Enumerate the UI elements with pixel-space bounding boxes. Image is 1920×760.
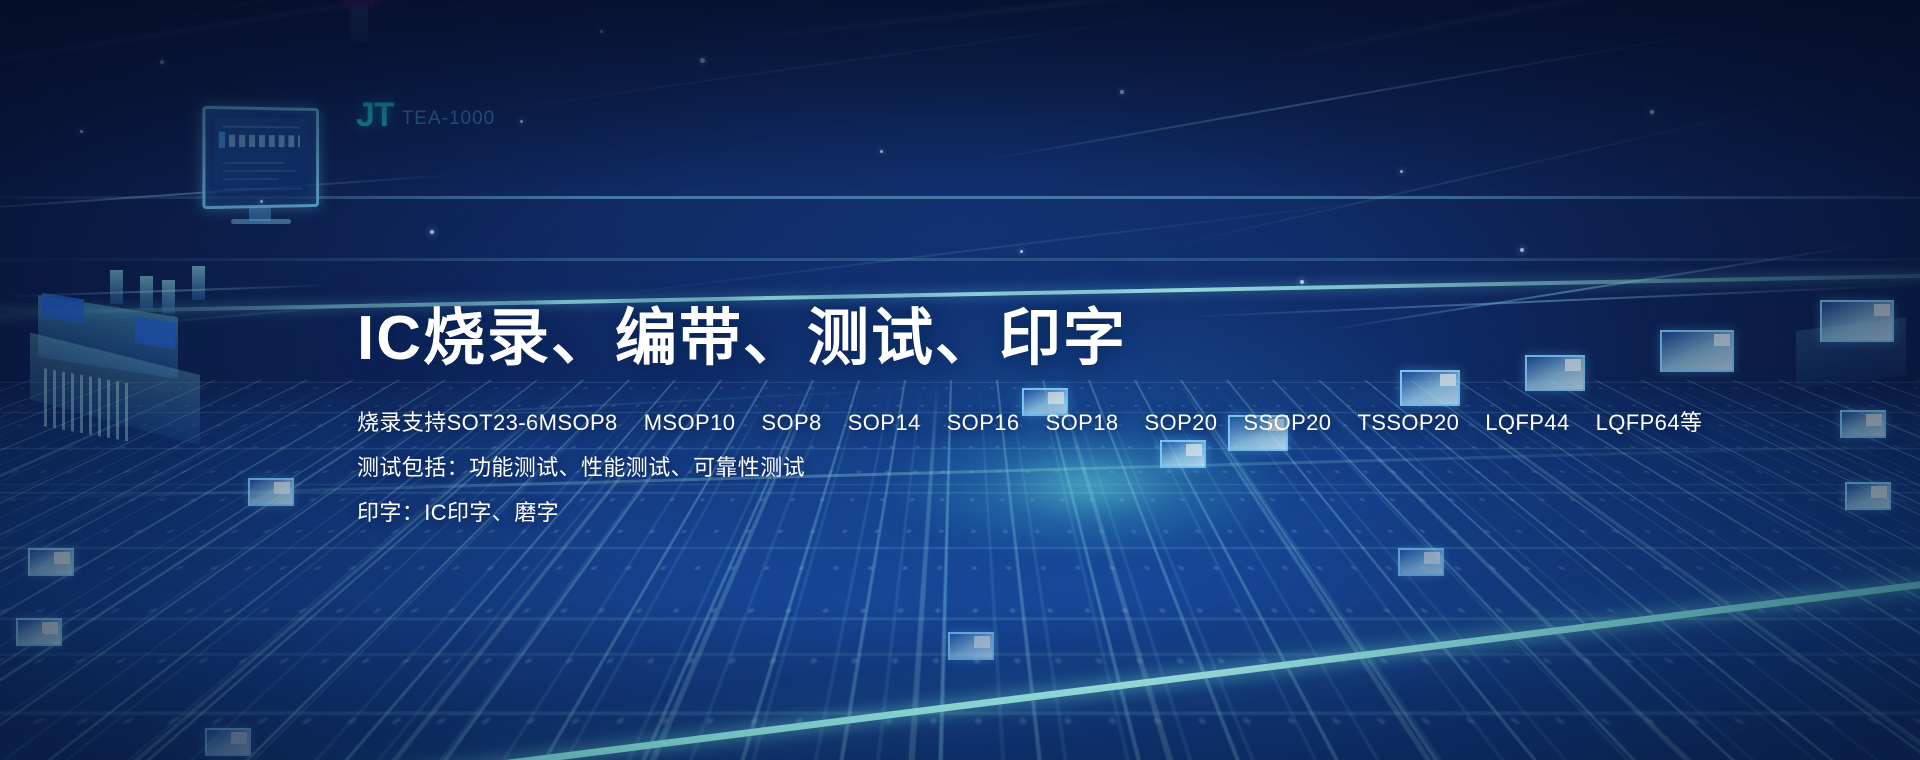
rack-pallet [1660,330,1734,372]
burning-support-line: 烧录支持SOT23-6MSOP8MSOP10SOP8SOP14SOP16SOP1… [357,411,1617,434]
package-item: LQFP64等 [1596,411,1703,434]
banner-text-block: IC烧录、编带、测试、印字 烧录支持SOT23-6MSOP8MSOP10SOP8… [357,306,1617,524]
rack-pallet [248,478,294,506]
package-item: SOP18 [1046,411,1119,434]
dust-particle [1520,248,1524,252]
package-item: MSOP8 [539,411,618,434]
hero-banner: JT TEA-1000 [0,0,1920,760]
rack-pallet [205,728,251,756]
wall-band-mid [0,258,1920,261]
dust-particle [1300,280,1304,284]
rack-pallet [1820,300,1894,342]
rack-pallet [1398,548,1444,576]
rack-pallet [16,618,62,646]
testing-line: 测试包括：功能测试、性能测试、可靠性测试 [357,456,1617,479]
dust-particle [1020,250,1023,253]
package-item: MSOP10 [644,411,736,434]
package-item: SOP14 [848,411,921,434]
rack-pallet [948,632,994,660]
package-item: SOP8 [761,411,821,434]
rack-pallet [1845,482,1891,510]
package-item: SOP16 [947,411,1020,434]
package-list: MSOP8MSOP10SOP8SOP14SOP16SOP18SOP20SSOP2… [539,410,1703,435]
package-item: TSSOP20 [1357,411,1459,434]
rack-pallet [28,548,74,576]
top-shadow-overlay [0,0,1920,190]
burning-prefix: 烧录支持SOT23-6 [357,411,539,434]
marking-line: 印字：IC印字、磨字 [357,501,1617,524]
page-title: IC烧录、编带、测试、印字 [357,306,1617,371]
package-item: SSOP20 [1243,411,1331,434]
dust-particle [430,230,434,234]
package-item: SOP20 [1144,411,1217,434]
package-item: LQFP44 [1485,411,1569,434]
dust-particle [260,200,263,203]
monitor-base [231,219,291,224]
machinery-left [10,258,215,448]
rack-pallet [1840,410,1886,438]
